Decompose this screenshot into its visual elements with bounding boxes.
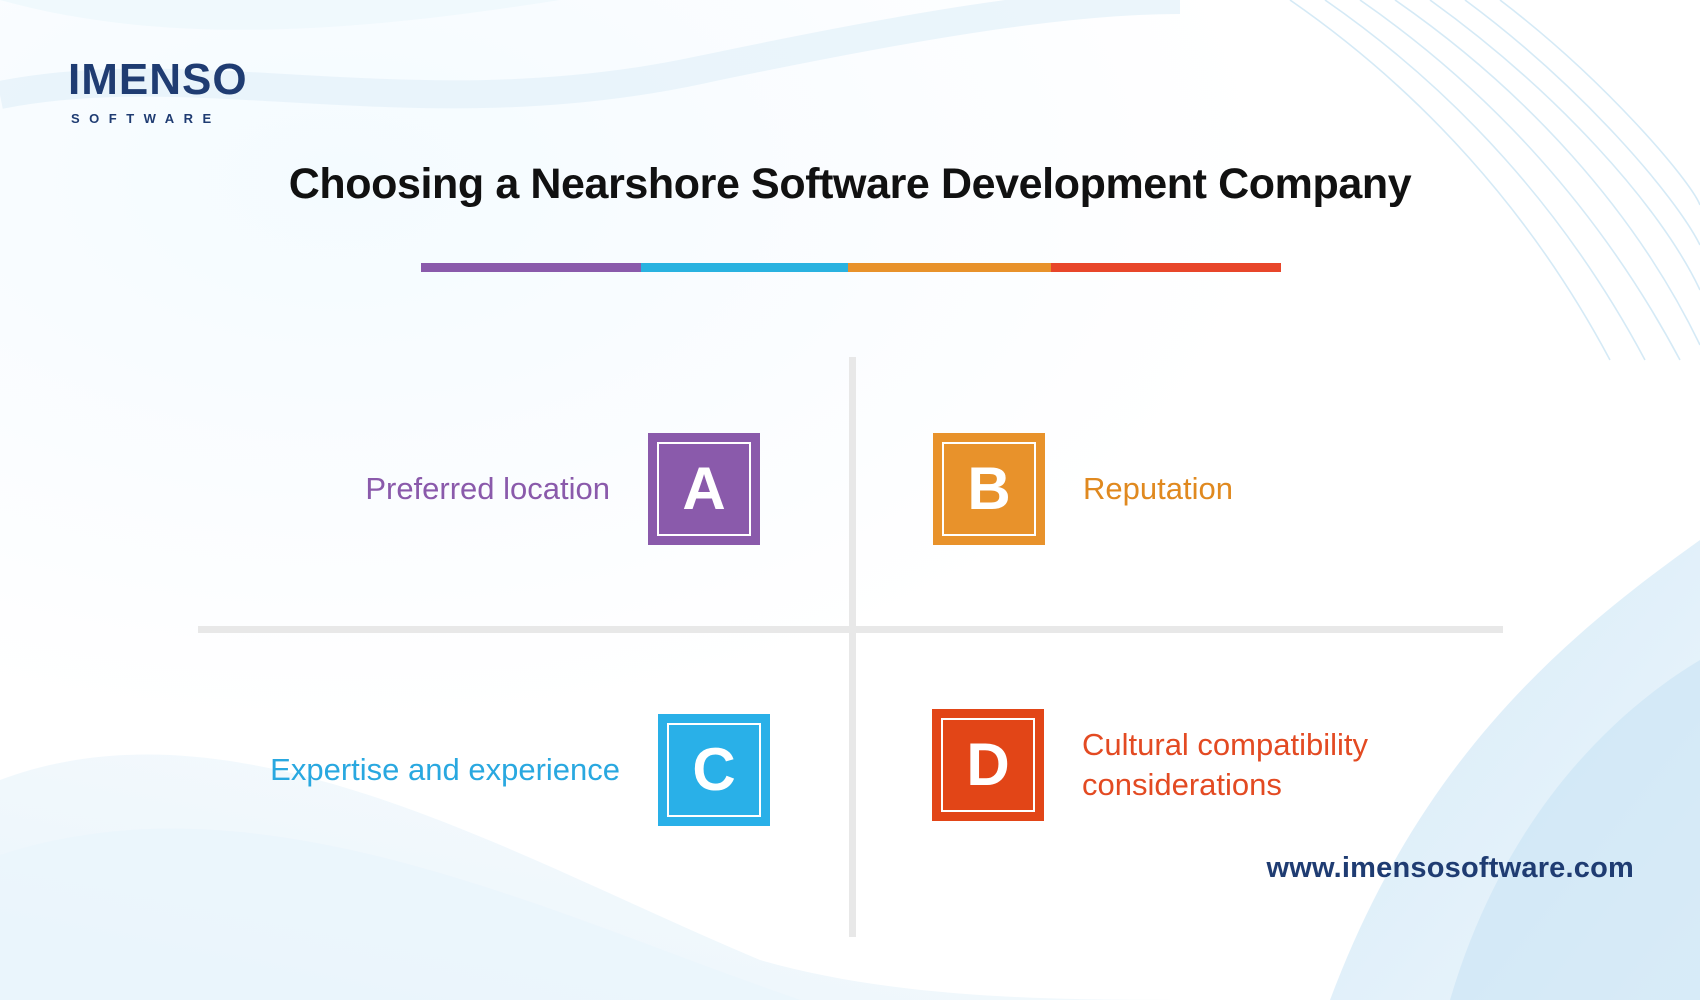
brand-logo: IMENSO SOFTWARE	[68, 58, 248, 126]
quadrant-divider-horizontal	[198, 626, 1503, 633]
quadrant-d-label: Cultural compatibility considerations	[1044, 725, 1368, 804]
top-left-swoosh	[0, 0, 560, 30]
infographic-canvas: IMENSO SOFTWARE Choosing a Nearshore Sof…	[0, 0, 1700, 1000]
quadrant-c-tile: C	[658, 714, 770, 826]
quadrant-a-letter: A	[682, 459, 725, 519]
bottom-left-ribbon-inner	[0, 829, 800, 1000]
quadrant-a-tile: A	[648, 433, 760, 545]
quadrant-d-tile: D	[932, 709, 1044, 821]
quadrant-c-label: Expertise and experience	[270, 750, 658, 790]
quadrant-item-b: B Reputation	[933, 433, 1533, 545]
footer-website-url[interactable]: www.imensosoftware.com	[1266, 852, 1634, 885]
quadrant-d-letter: D	[966, 735, 1009, 795]
quadrant-b-label: Reputation	[1045, 469, 1233, 509]
logo-tagline: SOFTWARE	[68, 111, 248, 126]
page-title: Choosing a Nearshore Software Developmen…	[0, 160, 1700, 209]
quadrant-item-c: Expertise and experience C	[140, 714, 770, 826]
accent-segment-red	[1051, 263, 1281, 272]
quadrant-b-letter: B	[967, 459, 1010, 519]
accent-segment-cyan	[641, 263, 847, 272]
quadrant-b-tile: B	[933, 433, 1045, 545]
accent-bar	[421, 263, 1281, 272]
quadrant-item-d: D Cultural compatibility considerations	[932, 709, 1572, 821]
quadrant-a-label: Preferred location	[365, 469, 648, 509]
accent-segment-orange	[848, 263, 1051, 272]
logo-wordmark: IMENSO	[68, 58, 248, 102]
quadrant-divider-vertical	[849, 357, 856, 937]
quadrant-c-letter: C	[692, 740, 735, 800]
accent-segment-purple	[421, 263, 641, 272]
quadrant-item-a: Preferred location A	[179, 433, 760, 545]
